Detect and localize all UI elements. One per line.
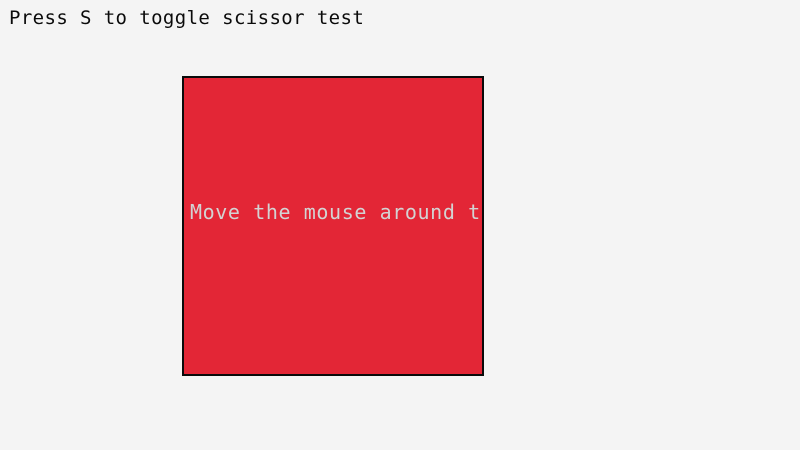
scissor-clipped-message: Move the mouse around to r <box>190 200 482 224</box>
scissor-clip-region: Move the mouse around to r <box>184 78 482 374</box>
instruction-bar: Press S to toggle scissor test <box>0 0 800 40</box>
instruction-text: Press S to toggle scissor test <box>9 7 364 29</box>
scissor-test-rectangle[interactable]: Move the mouse around to r <box>182 76 484 376</box>
demo-canvas: Press S to toggle scissor test Move the … <box>0 0 800 450</box>
